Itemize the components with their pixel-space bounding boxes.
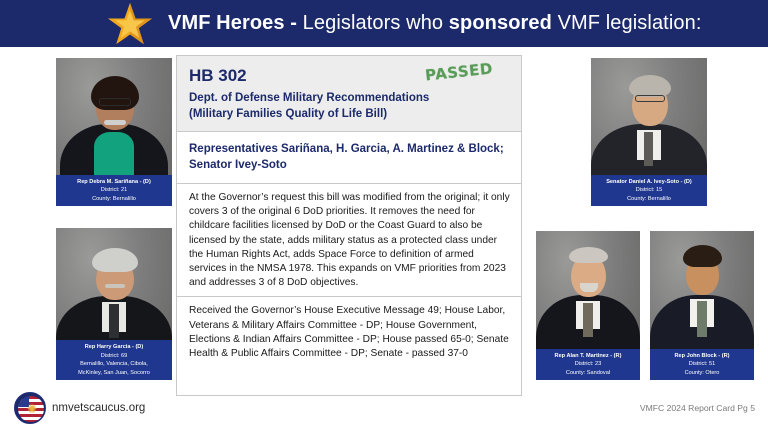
legislator-county-2: McKinley, San Juan, Socorro bbox=[58, 369, 170, 378]
legislator-county: County: Sandoval bbox=[538, 369, 638, 378]
bill-card-header: PASSED HB 302 Dept. of Defense Military … bbox=[177, 56, 521, 132]
footer-page-note: VMFC 2024 Report Card Pg 5 bbox=[640, 403, 755, 413]
legislator-name: Senator Daniel A. Ivey-Soto - (D) bbox=[593, 178, 705, 187]
bill-card: PASSED HB 302 Dept. of Defense Military … bbox=[176, 55, 522, 396]
legislator-photo-sarinana: VETERAN Rep Debra M. Sariñana - (D) Dist… bbox=[56, 58, 172, 206]
legislator-card-martinez[interactable]: Rep Alan T. Martinez - (R) District: 23 … bbox=[536, 231, 640, 380]
bill-status: Received the Governor’s House Executive … bbox=[177, 297, 521, 367]
legislator-caption-block: Rep John Block - (R) District: 51 County… bbox=[650, 349, 754, 381]
legislator-caption-martinez: Rep Alan T. Martinez - (R) District: 23 … bbox=[536, 349, 640, 381]
legislator-district: District: 23 bbox=[538, 360, 638, 369]
page-title-bold: VMF Heroes - bbox=[168, 12, 303, 34]
nm-veterans-caucus-seal-icon: ✺ bbox=[14, 392, 46, 424]
legislator-photo-martinez: Rep Alan T. Martinez - (R) District: 23 … bbox=[536, 231, 640, 380]
page-title: VMF Heroes - Legislators who sponsored V… bbox=[168, 12, 701, 35]
page-title-rest-1: Legislators who bbox=[303, 12, 449, 34]
legislator-caption-garcia: Rep Harry Garcia - (D) District: 69 Bern… bbox=[56, 340, 172, 380]
page-title-bold-2: sponsored bbox=[449, 12, 552, 34]
slide-header: VMF Heroes - Legislators who sponsored V… bbox=[0, 0, 768, 47]
legislator-card-block[interactable]: Rep John Block - (R) District: 51 County… bbox=[650, 231, 754, 380]
legislator-district: District: 69 bbox=[58, 352, 170, 361]
legislator-district: District: 15 bbox=[593, 186, 705, 195]
footer-website-url[interactable]: nmvetscaucus.org bbox=[52, 402, 145, 414]
legislator-card-garcia[interactable]: VETERAN Rep Harry Garcia - (D) District:… bbox=[56, 228, 172, 380]
legislator-name: Rep Harry Garcia - (D) bbox=[58, 343, 170, 352]
legislator-name: Rep Alan T. Martinez - (R) bbox=[538, 352, 638, 361]
legislator-name: Rep Debra M. Sariñana - (D) bbox=[58, 178, 170, 187]
zia-symbol-icon: ✺ bbox=[26, 403, 38, 415]
gold-star-icon bbox=[107, 2, 153, 46]
legislator-county: Bernalillo, Valencia, Cibola, bbox=[58, 360, 170, 369]
legislator-county: County: Otero bbox=[652, 369, 752, 378]
legislator-county: County: Bernalillo bbox=[58, 195, 170, 204]
legislator-caption-ivey-soto: Senator Daniel A. Ivey-Soto - (D) Distri… bbox=[591, 175, 707, 207]
bill-sponsors: Representatives Sariñana, H. Garcia, A. … bbox=[177, 132, 521, 184]
page-title-rest-2: VMF legislation: bbox=[552, 12, 702, 34]
bill-title-line-2: (Military Families Quality of Life Bill) bbox=[189, 108, 387, 120]
bill-title: Dept. of Defense Military Recommendation… bbox=[189, 91, 509, 122]
bill-description: At the Governor’s request this bill was … bbox=[177, 184, 521, 297]
legislator-card-sarinana[interactable]: VETERAN Rep Debra M. Sariñana - (D) Dist… bbox=[56, 58, 172, 206]
legislator-district: District: 51 bbox=[652, 360, 752, 369]
legislator-county: County: Bernalillo bbox=[593, 195, 705, 204]
legislator-district: District: 21 bbox=[58, 186, 170, 195]
legislator-photo-ivey-soto: Senator Daniel A. Ivey-Soto - (D) Distri… bbox=[591, 58, 707, 206]
legislator-photo-block: Rep John Block - (R) District: 51 County… bbox=[650, 231, 754, 380]
legislator-caption-sarinana: Rep Debra M. Sariñana - (D) District: 21… bbox=[56, 175, 172, 207]
legislator-photo-garcia: VETERAN Rep Harry Garcia - (D) District:… bbox=[56, 228, 172, 380]
legislator-name: Rep John Block - (R) bbox=[652, 352, 752, 361]
bill-title-line-1: Dept. of Defense Military Recommendation… bbox=[189, 92, 429, 104]
slide-root: VMF Heroes - Legislators who sponsored V… bbox=[0, 0, 768, 432]
legislator-card-ivey-soto[interactable]: Senator Daniel A. Ivey-Soto - (D) Distri… bbox=[591, 58, 707, 206]
